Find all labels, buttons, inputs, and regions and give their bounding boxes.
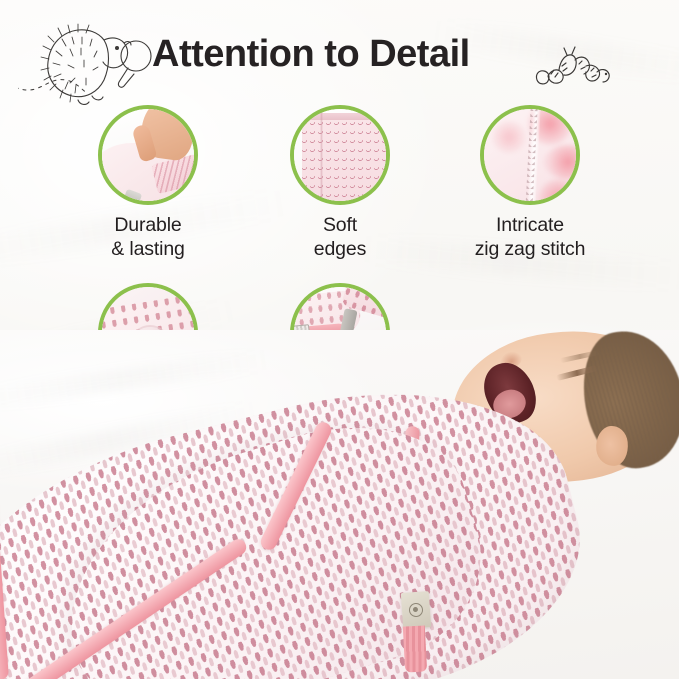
swaddle-trim-strands <box>403 625 427 672</box>
hand-pulling-hook-and-loop-photo <box>98 105 198 205</box>
yawning-baby-in-pink-swaddle <box>0 330 679 679</box>
hedgehog-with-magnifying-glass-icon <box>18 12 153 107</box>
feature-label: Soft edges <box>245 214 435 262</box>
swaddle-brand-tag <box>401 591 431 629</box>
feature-zigzag-stitch[interactable]: Intricate zig zag stitch <box>435 105 625 262</box>
zigzag-stitch-macro-photo <box>480 105 580 205</box>
brand-logo-mark <box>409 603 424 618</box>
product-infographic: Attention to Detail <box>0 0 679 679</box>
feature-label: Durable & lasting <box>53 214 243 262</box>
page-title: Attention to Detail <box>152 33 470 76</box>
feature-durable-lasting[interactable]: Durable & lasting <box>53 105 243 262</box>
header: Attention to Detail <box>0 0 679 100</box>
soft-edge-fabric-swatch-photo <box>290 105 390 205</box>
feature-soft-edges[interactable]: Soft edges <box>245 105 435 262</box>
feature-label: Intricate zig zag stitch <box>435 214 625 262</box>
caterpillar-icon <box>531 36 613 88</box>
